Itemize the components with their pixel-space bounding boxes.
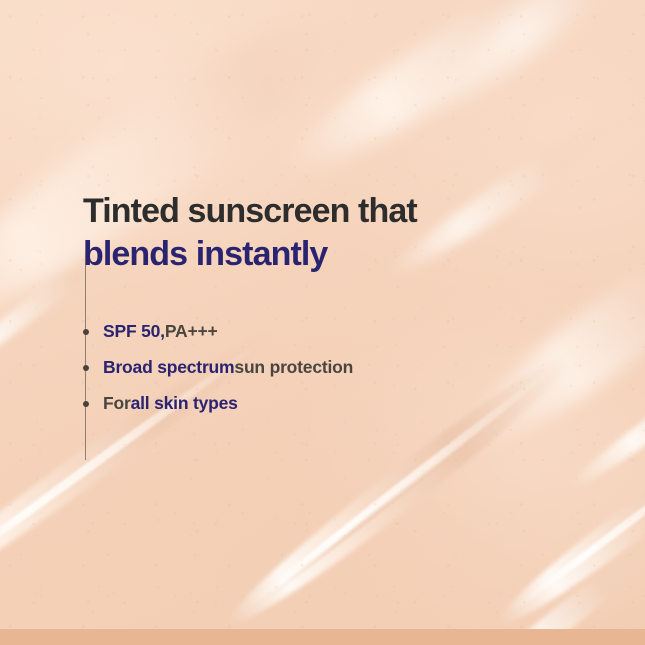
headline-line-2: blends instantly <box>83 233 605 276</box>
list-item: Broad spectrum sun protection <box>83 350 605 386</box>
feature-text-emphasis: all skin types <box>131 393 238 414</box>
sunscreen-promo-poster: Tinted sunscreen that blends instantly S… <box>0 0 645 645</box>
feature-text-emphasis: Broad spectrum <box>103 357 234 378</box>
bullet-dot-icon <box>83 329 89 335</box>
content-block: Tinted sunscreen that blends instantly S… <box>83 190 605 422</box>
feature-text-emphasis: SPF 50, <box>103 321 165 342</box>
list-item: SPF 50, PA+++ <box>83 314 605 350</box>
bullet-dot-icon <box>83 401 89 407</box>
page-title: Tinted sunscreen that blends instantly <box>83 190 605 276</box>
headline-line-1: Tinted sunscreen that <box>83 190 605 233</box>
bullet-dot-icon <box>83 365 89 371</box>
feature-text-regular: For <box>103 393 131 414</box>
feature-text-regular: sun protection <box>234 357 353 378</box>
list-item: For all skin types <box>83 386 605 422</box>
feature-list: SPF 50, PA+++ Broad spectrum sun protect… <box>83 314 605 422</box>
bottom-accent-bar <box>0 629 645 645</box>
feature-text-regular: PA+++ <box>165 321 218 342</box>
